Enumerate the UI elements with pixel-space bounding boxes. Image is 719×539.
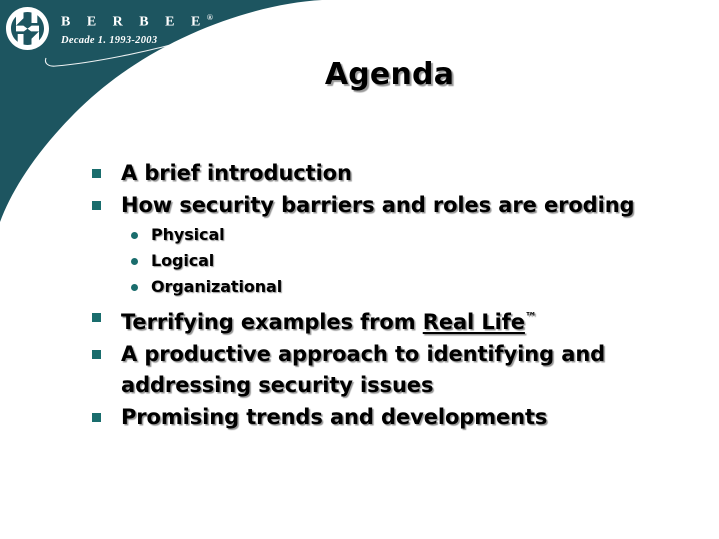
- square-bullet-icon: [92, 169, 101, 178]
- list-item: Promising trends and developments: [92, 402, 692, 433]
- sub-list-item: Logical: [92, 248, 692, 273]
- square-bullet-icon: [92, 201, 101, 210]
- brand-name-text: B E R B E E: [61, 15, 207, 30]
- list-item: A productive approach to identifying and…: [92, 339, 692, 401]
- sub-list-item-label: Logical: [151, 248, 214, 273]
- sub-list-item: Organizational: [92, 274, 692, 299]
- trademark-mark: ™: [525, 310, 537, 324]
- square-bullet-icon: [92, 313, 101, 322]
- list-item: Terrifying examples from Real Life™: [92, 302, 692, 338]
- list-item-label: A productive approach to identifying and…: [121, 339, 641, 401]
- list-item: A brief introduction: [92, 158, 692, 189]
- list-item-label-prefix: Terrifying examples from: [121, 310, 423, 334]
- square-bullet-icon: [92, 413, 101, 422]
- dot-bullet-icon: [131, 258, 138, 265]
- dot-bullet-icon: [131, 232, 138, 239]
- list-item-label: A brief introduction: [121, 158, 352, 189]
- sub-list-item-label: Physical: [151, 222, 225, 247]
- brand-logo: B E R B E E® Decade 1. 1993-2003: [4, 5, 213, 52]
- list-item-label: How security barriers and roles are erod…: [121, 190, 635, 221]
- page-title: Agenda: [0, 57, 719, 92]
- brand-name: B E R B E E®: [61, 14, 213, 30]
- list-item-label-underlined: Real Life: [423, 310, 525, 334]
- list-item-label: Promising trends and developments: [121, 402, 547, 433]
- presentation-slide: B E R B E E® Decade 1. 1993-2003 Agenda …: [0, 0, 719, 539]
- berbee-circle-bolt-icon: [4, 5, 51, 52]
- list-item-label-composite: Terrifying examples from Real Life™: [121, 302, 537, 338]
- square-bullet-icon: [92, 350, 101, 359]
- sub-list-item: Physical: [92, 222, 692, 247]
- sub-list: Physical Logical Organizational: [92, 222, 692, 299]
- sub-list-item-label: Organizational: [151, 274, 282, 299]
- dot-bullet-icon: [131, 284, 138, 291]
- list-item: How security barriers and roles are erod…: [92, 190, 692, 221]
- agenda-list: A brief introduction How security barrie…: [92, 158, 692, 434]
- brand-tagline: Decade 1. 1993-2003: [61, 35, 213, 46]
- registered-mark: ®: [207, 13, 213, 22]
